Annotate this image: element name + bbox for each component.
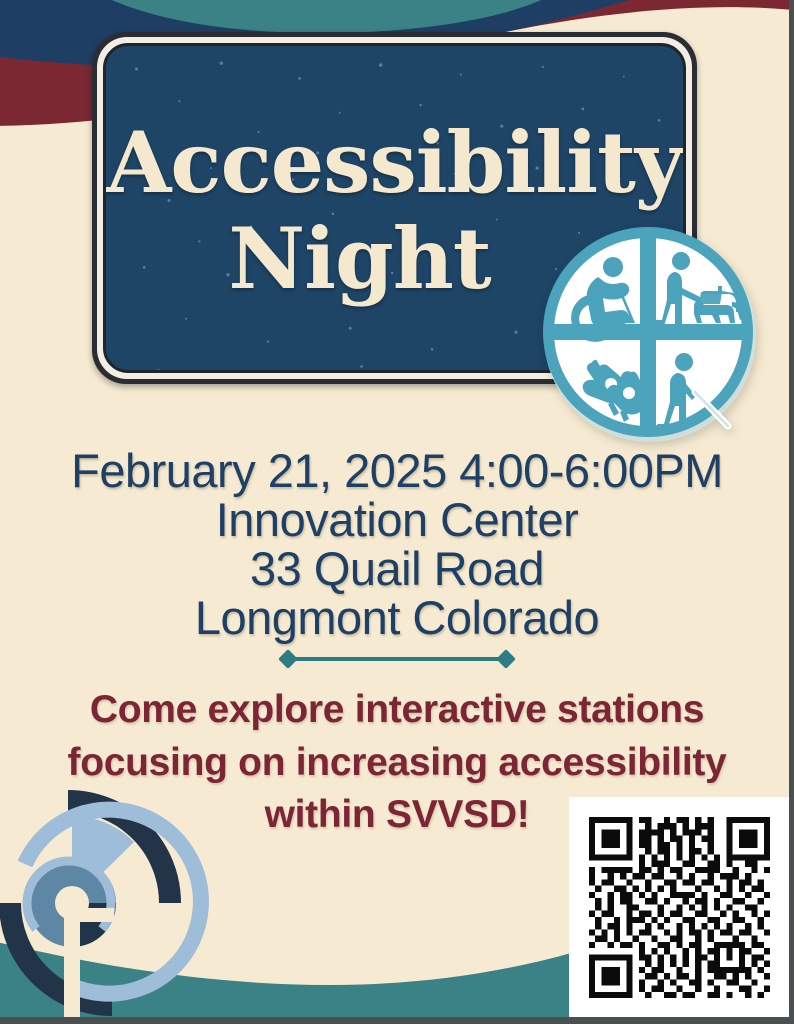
description-line-2: focusing on increasing accessibility <box>36 737 758 790</box>
event-datetime: February 21, 2025 4:00-6:00PM <box>0 446 794 495</box>
accessibility-emblem <box>536 220 764 448</box>
event-street: 33 Quail Road <box>0 544 794 593</box>
divider <box>0 652 794 666</box>
event-venue: Innovation Center <box>0 495 794 544</box>
spiral-stem <box>64 903 80 1024</box>
event-details: February 21, 2025 4:00-6:00PM Innovation… <box>0 446 794 642</box>
description-line-1: Come explore interactive stations <box>36 684 758 737</box>
event-city-state: Longmont Colorado <box>0 593 794 642</box>
poster-title-line-1: Accessibility <box>106 122 682 204</box>
qr-code[interactable] <box>569 797 790 1018</box>
poster: Accessibility Night <box>0 0 794 1024</box>
poster-title-line-2: Night <box>228 218 560 300</box>
divider-diamond-left <box>278 649 298 669</box>
top-teal-band <box>92 0 560 33</box>
divider-diamond-right <box>496 649 516 669</box>
qr-code-matrix[interactable] <box>589 817 770 998</box>
divider-line <box>295 657 499 661</box>
spiral-notch <box>80 908 114 922</box>
